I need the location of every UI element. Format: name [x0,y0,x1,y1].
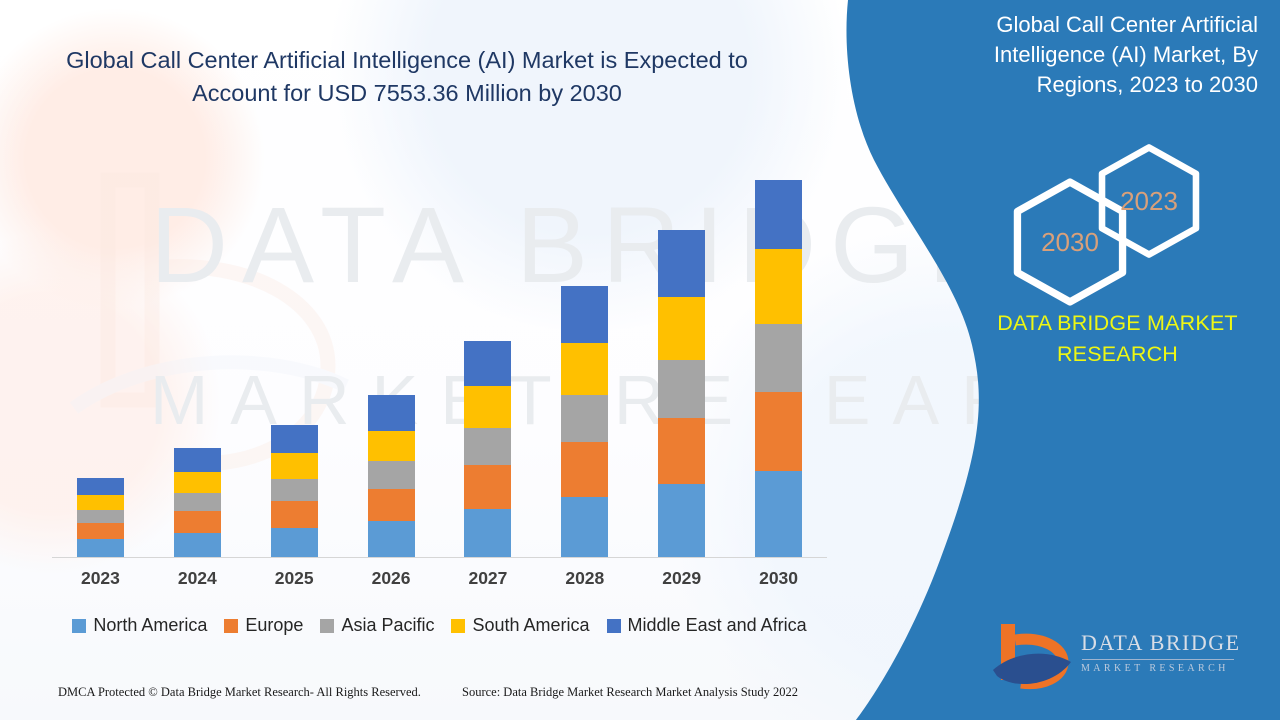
bar-segment [658,230,705,296]
bar-segment [77,495,124,510]
legend-label: Middle East and Africa [628,615,807,636]
stacked-bar-2023[interactable] [77,478,124,557]
page-title: Global Call Center Artificial Intelligen… [22,44,792,111]
bar-segment [464,428,511,466]
legend-item[interactable]: Asia Pacific [320,615,434,636]
bar-segment [174,533,221,557]
bar-segment [271,528,318,558]
bar-segment [561,286,608,343]
logo-line-1: DATA BRIDGE [1081,630,1241,656]
legend-item[interactable]: Middle East and Africa [607,615,807,636]
bar-segment [368,431,415,462]
logo-line-2: MARKET RESEARCH [1081,663,1241,674]
bar-segment [271,453,318,478]
bar-segment [658,418,705,484]
stacked-bar-chart [52,150,827,558]
logo-divider [1082,659,1234,660]
bar-segment [174,493,221,511]
stacked-bar-2030[interactable] [755,180,802,557]
brand-name: DATA BRIDGE MARKET RESEARCH [955,308,1280,369]
hexagon-badge-2023: 2023 [1093,142,1205,260]
bar-segment [77,510,124,523]
footer-source: Source: Data Bridge Market Research Mark… [462,685,798,700]
x-axis-labels: 20232024202520262027202820292030 [52,568,827,589]
x-axis-label-2023: 2023 [52,568,149,589]
stacked-bar-2027[interactable] [464,341,511,557]
bar-segment [561,497,608,557]
hexagon-label-2023: 2023 [1093,142,1205,260]
logo-wordmark: DATA BRIDGE MARKET RESEARCH [1081,630,1241,674]
x-axis-label-2027: 2027 [440,568,537,589]
legend-label: North America [93,615,207,636]
bar-slot [52,150,149,557]
bar-segment [755,249,802,324]
bar-segment [561,343,608,395]
bar-segment [368,489,415,522]
bar-segment [271,425,318,453]
bar-segment [77,478,124,495]
bar-segment [77,539,124,557]
x-axis-label-2028: 2028 [536,568,633,589]
bar-segment [464,341,511,386]
stacked-bar-2024[interactable] [174,448,221,557]
chart-plot-area [52,150,827,558]
bar-slot [633,150,730,557]
legend-item[interactable]: South America [451,615,589,636]
legend-label: Europe [245,615,303,636]
bar-segment [174,448,221,471]
stacked-bar-2029[interactable] [658,230,705,557]
bar-slot [246,150,343,557]
x-axis-line [52,557,827,558]
bar-segment [755,324,802,392]
bar-segment [658,360,705,418]
bar-segment [755,180,802,249]
bar-segment [561,395,608,442]
bar-slot [343,150,440,557]
legend-item[interactable]: Europe [224,615,303,636]
bar-segment [755,471,802,557]
legend-swatch-icon [451,619,465,633]
data-bridge-logo: DATA BRIDGE MARKET RESEARCH [991,618,1241,698]
bar-segment [368,395,415,431]
x-axis-label-2029: 2029 [633,568,730,589]
legend-swatch-icon [224,619,238,633]
legend-item[interactable]: North America [72,615,207,636]
legend-label: South America [472,615,589,636]
hexagon-badges: 2030 2023 [965,140,1265,285]
logo-b-mark-icon [991,618,1077,694]
bar-segment [464,465,511,509]
bar-segment [271,479,318,501]
stacked-bar-2026[interactable] [368,395,415,557]
legend-label: Asia Pacific [341,615,434,636]
bar-slot [149,150,246,557]
stacked-bar-2028[interactable] [561,286,608,557]
x-axis-label-2026: 2026 [343,568,440,589]
bar-segment [464,386,511,428]
bar-segment [368,461,415,488]
legend-swatch-icon [320,619,334,633]
bar-segment [174,472,221,493]
x-axis-label-2030: 2030 [730,568,827,589]
stacked-bar-2025[interactable] [271,425,318,557]
chart-legend: North AmericaEuropeAsia PacificSouth Ame… [52,615,827,636]
panel-title: Global Call Center Artificial Intelligen… [947,10,1272,100]
bar-group [52,150,827,557]
bar-segment [658,297,705,360]
bar-slot [536,150,633,557]
x-axis-label-2025: 2025 [246,568,343,589]
bar-segment [77,523,124,538]
bar-segment [368,521,415,557]
panel-content: Global Call Center Artificial Intelligen… [955,0,1280,720]
bar-segment [755,392,802,470]
x-axis-label-2024: 2024 [149,568,246,589]
footer-copyright: DMCA Protected © Data Bridge Market Rese… [58,685,421,700]
bar-slot [440,150,537,557]
bar-segment [658,484,705,557]
legend-swatch-icon [607,619,621,633]
bar-segment [464,509,511,557]
bar-slot [730,150,827,557]
bar-segment [561,442,608,497]
infographic-canvas: DATA BRIDGE MARKET RESEARCH Global Call … [0,0,1280,720]
legend-swatch-icon [72,619,86,633]
bar-segment [271,501,318,527]
bar-segment [174,511,221,532]
